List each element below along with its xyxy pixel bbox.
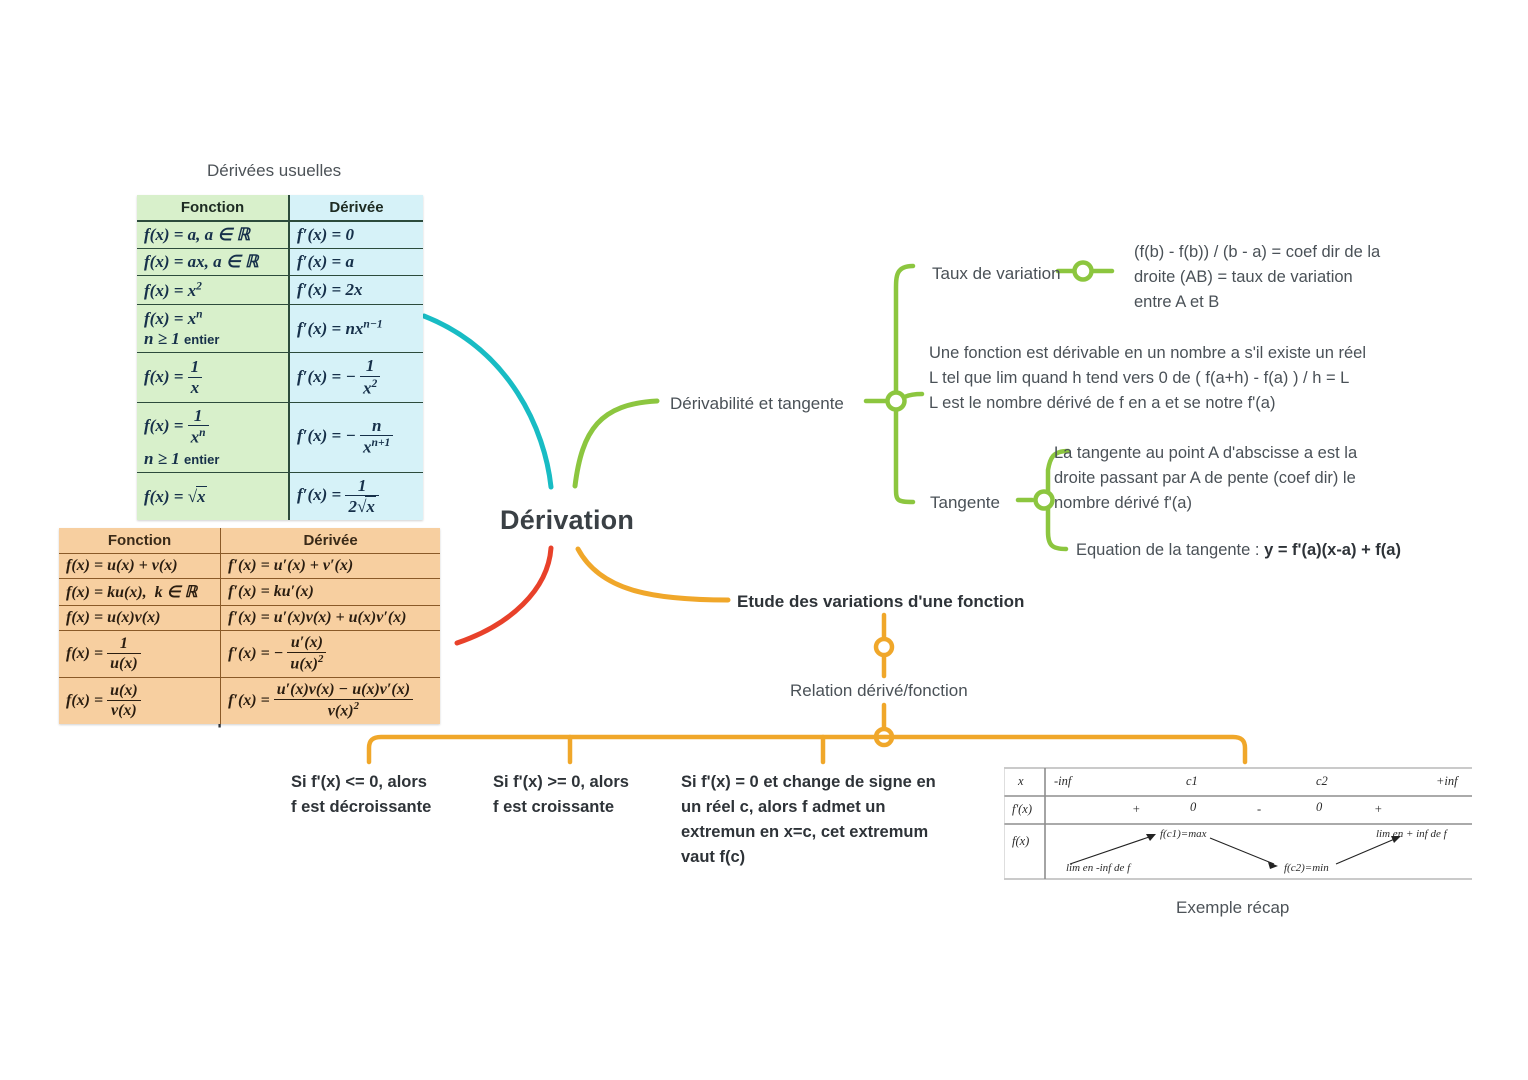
header-fonction: Fonction bbox=[137, 195, 289, 221]
variation-table-recap: x f'(x) f(x) -inf c1 c2 +inf + 0 - 0 + l… bbox=[1004, 766, 1472, 882]
cell-fonction: f(x) = 1xn n ≥ 1 entier bbox=[137, 402, 289, 472]
leaf-line: vaut f(c) bbox=[681, 845, 981, 870]
table-row: f(x) = xn n ≥ 1 entier f′(x) = nxn−1 bbox=[137, 304, 423, 353]
recap-x-value: +inf bbox=[1436, 774, 1458, 789]
leaf-line: La tangente au point A d'abscisse a est … bbox=[1054, 441, 1454, 466]
recap-annotation-min: f(c2)=min bbox=[1284, 862, 1329, 874]
cell-derivee: f′(x) = u′(x)v(x) − u(x)v′(x)v(x)2 bbox=[221, 677, 440, 723]
leaf-line: extremun en x=c, cet extremum bbox=[681, 820, 981, 845]
leaf-line: Si f'(x) <= 0, alors bbox=[291, 770, 481, 795]
leaf-definition-derivabilite: Une fonction est dérivable en un nombre … bbox=[929, 341, 1449, 416]
leaf-variation-extremum: Si f'(x) = 0 et change de signe en un ré… bbox=[681, 770, 981, 870]
table-row: f(x) = 1xn n ≥ 1 entier f′(x) = − nxn+1 bbox=[137, 402, 423, 472]
leaf-taux-de-variation: (f(b) - f(b)) / (b - a) = coef dir de la… bbox=[1134, 240, 1454, 315]
caption-derivees-usuelles: Dérivées usuelles bbox=[207, 161, 341, 181]
cell-derivee: f′(x) = − nxn+1 bbox=[289, 402, 423, 472]
table-header-row: Fonction Dérivée bbox=[59, 528, 440, 554]
table-row: f(x) = a, a ∈ ℝ f′(x) = 0 bbox=[137, 221, 423, 249]
table-row: f(x) = ku(x), k ∈ ℝ f′(x) = ku′(x) bbox=[59, 579, 440, 606]
table-operations: Fonction Dérivée f(x) = u(x) + v(x) f′(x… bbox=[59, 528, 440, 724]
table-row: f(x) = ax, a ∈ ℝ f′(x) = a bbox=[137, 249, 423, 276]
leaf-equation-formula: y = f'(a)(x-a) + f(a) bbox=[1264, 541, 1401, 559]
branch-label-etude-des-variations[interactable]: Etude des variations d'une fonction bbox=[737, 590, 1024, 615]
mindmap-canvas: Dérivation Dérivées usuelles Opérations … bbox=[0, 0, 1528, 1080]
leaf-definition-tangente: La tangente au point A d'abscisse a est … bbox=[1054, 441, 1454, 516]
table-row: f(x) = √x f′(x) = 12√x bbox=[137, 472, 423, 520]
cell-fonction: f(x) = u(x)v(x) bbox=[59, 677, 221, 723]
leaf-line: un réel c, alors f admet un bbox=[681, 795, 981, 820]
recap-fprime-sign: - bbox=[1257, 802, 1261, 817]
cell-derivee: f′(x) = 12√x bbox=[289, 472, 423, 520]
recap-x-value: c2 bbox=[1316, 774, 1328, 789]
header-fonction: Fonction bbox=[59, 528, 221, 554]
cell-fonction: f(x) = x2 bbox=[137, 276, 289, 305]
cell-derivee: f′(x) = u′(x)v(x) + u(x)v′(x) bbox=[221, 606, 440, 631]
recap-annotation-max: f(c1)=max bbox=[1160, 828, 1207, 840]
cell-derivee: f′(x) = u′(x) + v′(x) bbox=[221, 554, 440, 579]
table-row: f(x) = x2 f′(x) = 2x bbox=[137, 276, 423, 305]
cell-derivee: f′(x) = 2x bbox=[289, 276, 423, 305]
header-derivee: Dérivée bbox=[289, 195, 423, 221]
cell-derivee: f′(x) = nxn−1 bbox=[289, 304, 423, 353]
cell-fonction: f(x) = a, a ∈ ℝ bbox=[137, 221, 289, 249]
header-derivee: Dérivée bbox=[221, 528, 440, 554]
table-derivees-usuelles: Fonction Dérivée f(x) = a, a ∈ ℝ f′(x) =… bbox=[137, 195, 423, 520]
leaf-equation-tangente: Equation de la tangente : y = f'(a)(x-a)… bbox=[1076, 538, 1476, 563]
cell-fonction: f(x) = u(x) + v(x) bbox=[59, 554, 221, 579]
recap-fprime-sign: + bbox=[1374, 802, 1382, 817]
leaf-line: droite passant par A de pente (coef dir)… bbox=[1054, 466, 1454, 491]
leaf-line: L est le nombre dérivé de f en a et se n… bbox=[929, 391, 1449, 416]
cell-fonction: f(x) = ax, a ∈ ℝ bbox=[137, 249, 289, 276]
leaf-line: nombre dérivé f'(a) bbox=[1054, 491, 1454, 516]
branch-label-tangente[interactable]: Tangente bbox=[930, 491, 1000, 516]
table-row: f(x) = 1x f′(x) = − 1x2 bbox=[137, 353, 423, 403]
leaf-equation-prefix: Equation de la tangente : bbox=[1076, 541, 1264, 559]
recap-x-value: c1 bbox=[1186, 774, 1198, 789]
cell-derivee: f′(x) = − 1x2 bbox=[289, 353, 423, 403]
leaf-line: (f(b) - f(b)) / (b - a) = coef dir de la bbox=[1134, 240, 1454, 265]
leaf-line: f est décroissante bbox=[291, 795, 481, 820]
leaf-line: entre A et B bbox=[1134, 290, 1454, 315]
leaf-line: Une fonction est dérivable en un nombre … bbox=[929, 341, 1449, 366]
cell-derivee: f′(x) = a bbox=[289, 249, 423, 276]
branch-label-derivabilite-et-tangente[interactable]: Dérivabilité et tangente bbox=[670, 392, 844, 417]
leaf-line: f est croissante bbox=[493, 795, 683, 820]
leaf-line: L tel que lim quand h tend vers 0 de ( f… bbox=[929, 366, 1449, 391]
cell-fonction: f(x) = 1x bbox=[137, 353, 289, 403]
recap-fprime-sign: 0 bbox=[1316, 800, 1322, 815]
cell-fonction: f(x) = ku(x), k ∈ ℝ bbox=[59, 579, 221, 606]
recap-row-label-fprime: f'(x) bbox=[1012, 802, 1032, 817]
recap-annotation-lim-plus-inf: lim en + inf de f bbox=[1376, 828, 1447, 840]
table-row: f(x) = 1u(x) f′(x) = − u′(x)u(x)2 bbox=[59, 631, 440, 678]
leaf-variation-decroissante: Si f'(x) <= 0, alors f est décroissante bbox=[291, 770, 481, 820]
cell-fonction: f(x) = u(x)v(x) bbox=[59, 606, 221, 631]
recap-fprime-sign: + bbox=[1132, 802, 1140, 817]
cell-fonction: f(x) = xn n ≥ 1 entier bbox=[137, 304, 289, 353]
recap-annotation-lim-minus-inf: lim en -inf de f bbox=[1066, 862, 1130, 874]
table-row: f(x) = u(x) + v(x) f′(x) = u′(x) + v′(x) bbox=[59, 554, 440, 579]
table-row: f(x) = u(x)v(x) f′(x) = u′(x)v(x) − u(x)… bbox=[59, 677, 440, 723]
leaf-line: Si f'(x) = 0 et change de signe en bbox=[681, 770, 981, 795]
recap-fprime-sign: 0 bbox=[1190, 800, 1196, 815]
cell-derivee: f′(x) = − u′(x)u(x)2 bbox=[221, 631, 440, 678]
leaf-variation-croissante: Si f'(x) >= 0, alors f est croissante bbox=[493, 770, 683, 820]
cell-derivee: f′(x) = ku′(x) bbox=[221, 579, 440, 606]
cell-fonction: f(x) = √x bbox=[137, 472, 289, 520]
caption-exemple-recap: Exemple récap bbox=[1176, 898, 1289, 918]
center-topic-title: Dérivation bbox=[500, 505, 634, 536]
recap-x-value: -inf bbox=[1054, 774, 1071, 789]
branch-label-taux-de-variation[interactable]: Taux de variation bbox=[932, 262, 1061, 287]
cell-derivee: f′(x) = 0 bbox=[289, 221, 423, 249]
leaf-line: Si f'(x) >= 0, alors bbox=[493, 770, 683, 795]
recap-row-label-f: f(x) bbox=[1012, 834, 1029, 849]
branch-label-relation-derive-fonction[interactable]: Relation dérivé/fonction bbox=[790, 679, 968, 704]
recap-row-label-x: x bbox=[1018, 774, 1024, 789]
table-row: f(x) = u(x)v(x) f′(x) = u′(x)v(x) + u(x)… bbox=[59, 606, 440, 631]
leaf-line: droite (AB) = taux de variation bbox=[1134, 265, 1454, 290]
cell-fonction: f(x) = 1u(x) bbox=[59, 631, 221, 678]
table-header-row: Fonction Dérivée bbox=[137, 195, 423, 221]
